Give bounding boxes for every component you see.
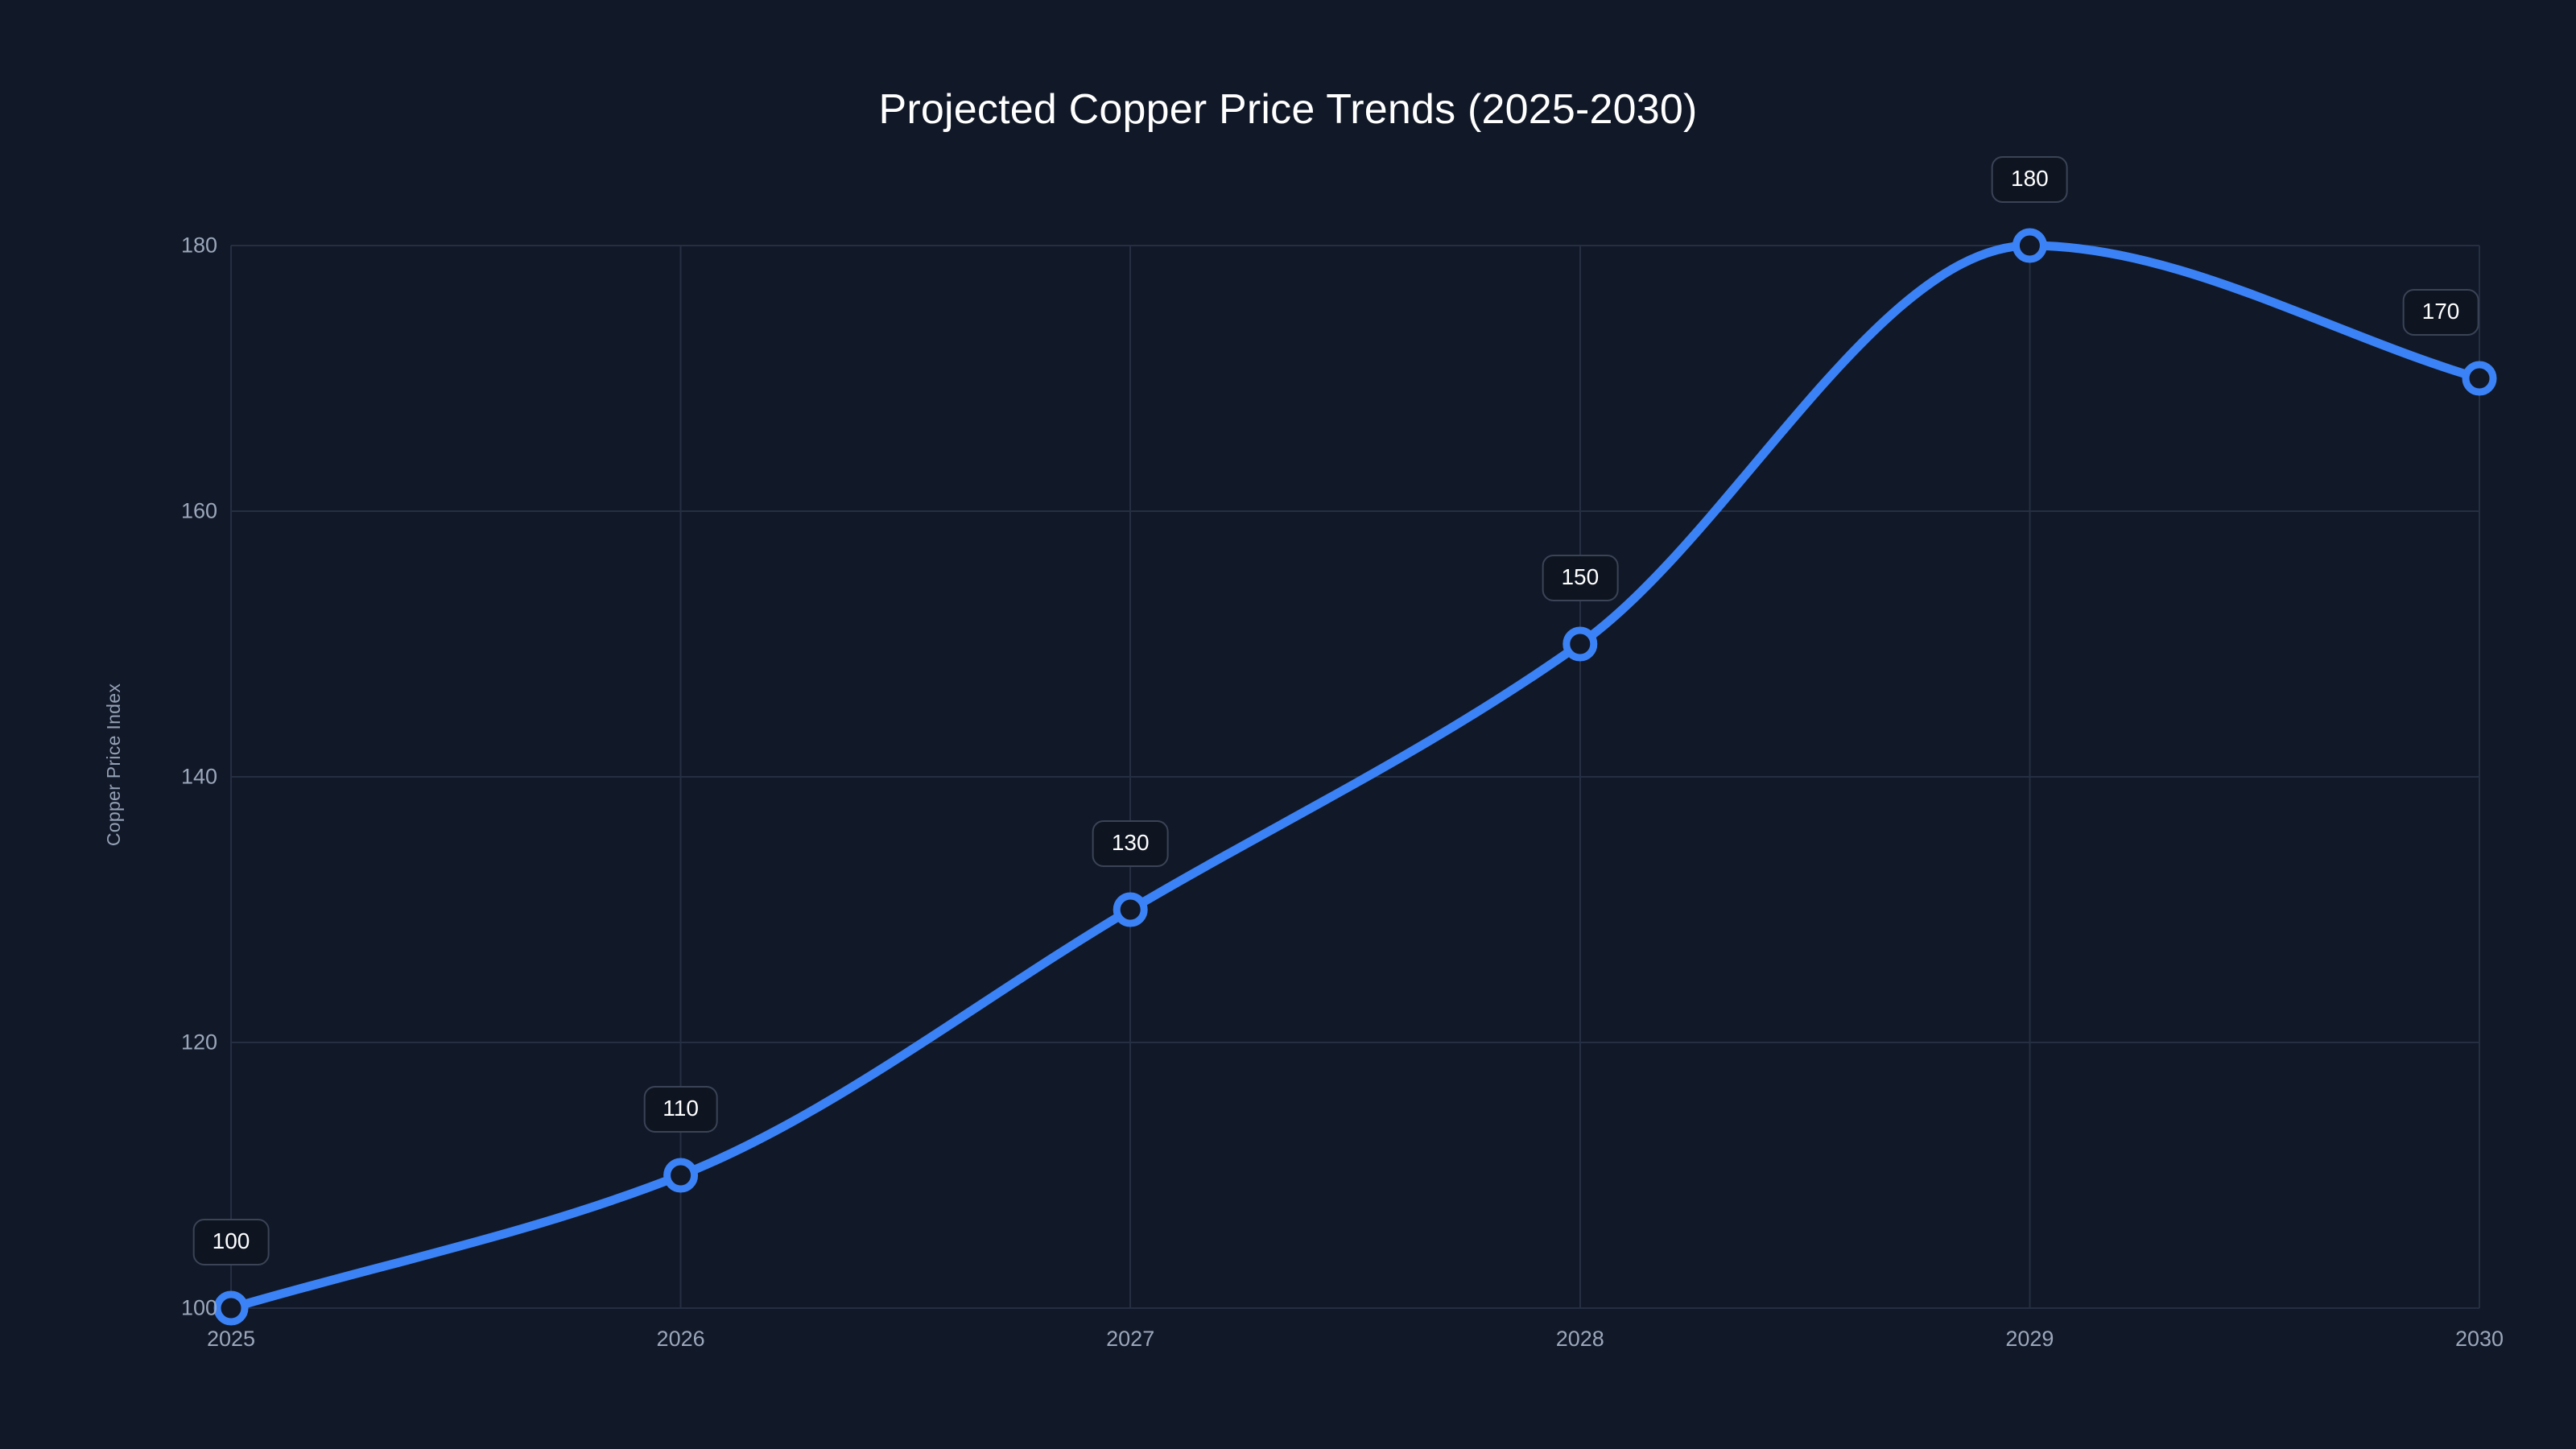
data-point-value-badge: 100 — [193, 1219, 270, 1265]
data-point-value-badge: 110 — [643, 1086, 718, 1133]
data-point-value-badge: 170 — [2403, 289, 2479, 336]
y-axis-tick-label: 100 — [121, 1296, 217, 1321]
data-point-value-badge: 130 — [1092, 820, 1169, 867]
y-axis-tick-label: 120 — [121, 1030, 217, 1055]
x-axis-tick-label: 2026 — [657, 1327, 705, 1352]
x-axis-tick-label: 2029 — [2005, 1327, 2054, 1352]
y-axis-tick-label: 140 — [121, 765, 217, 790]
chart-container: Projected Copper Price Trends (2025-2030… — [0, 0, 2576, 1449]
data-point-marker[interactable] — [667, 1162, 695, 1189]
plot-area — [0, 0, 2576, 1449]
data-point-marker[interactable] — [2016, 232, 2043, 259]
x-axis-tick-label: 2028 — [1556, 1327, 1604, 1352]
data-point-marker[interactable] — [2466, 365, 2493, 392]
x-axis-tick-label: 2027 — [1106, 1327, 1154, 1352]
data-point-value-badge: 150 — [1542, 555, 1618, 601]
y-axis-tick-label: 180 — [121, 233, 217, 258]
x-axis-tick-label: 2030 — [2455, 1327, 2504, 1352]
data-point-marker[interactable] — [1567, 630, 1594, 658]
data-point-value-badge: 180 — [1992, 156, 2068, 203]
horizontal-gridlines — [231, 246, 2479, 1308]
data-point-marker[interactable] — [1117, 896, 1144, 923]
x-axis-tick-label: 2025 — [207, 1327, 255, 1352]
data-point-marker[interactable] — [217, 1294, 245, 1322]
y-axis-tick-label: 160 — [121, 499, 217, 524]
